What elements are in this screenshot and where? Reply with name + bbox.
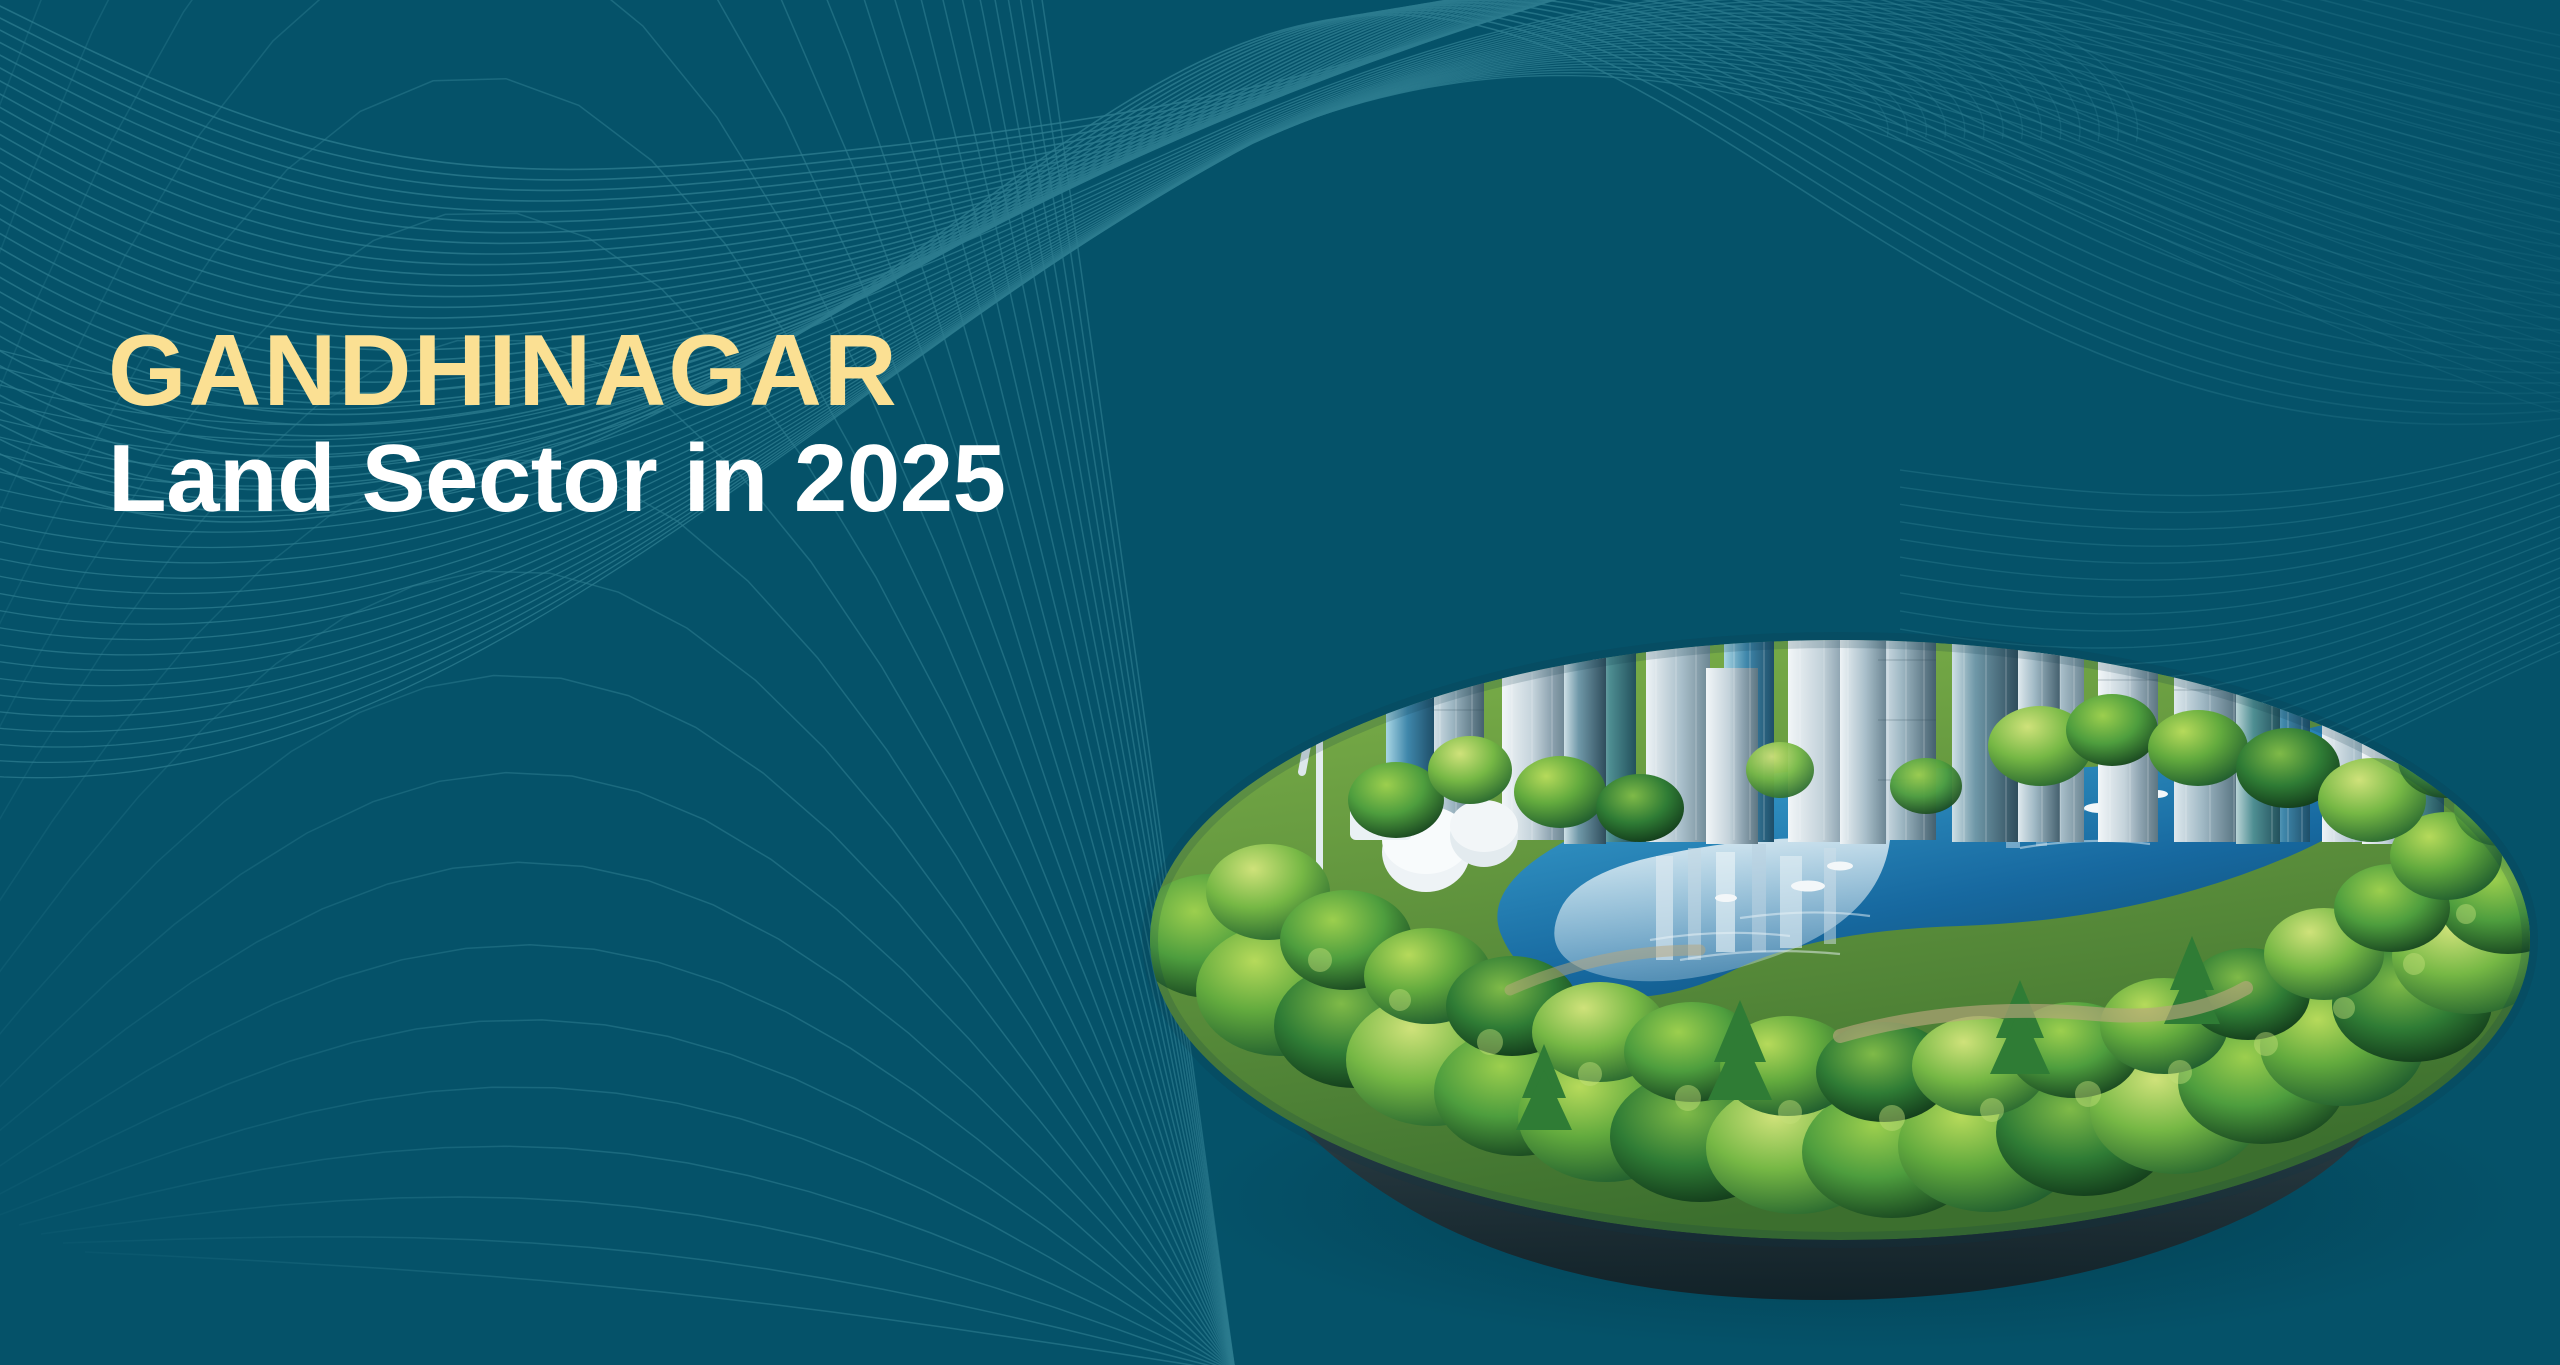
floating-green-city-island-image (1140, 300, 2560, 1365)
page-title-city: GANDHINAGAR (108, 322, 1005, 421)
page-title-subject: Land Sector in 2025 (108, 431, 1005, 527)
island-surface (1140, 362, 2560, 1240)
tower (1840, 638, 1886, 844)
banner-root: GANDHINAGAR Land Sector in 2025 (0, 0, 2560, 1365)
tower (2098, 376, 2158, 842)
headline-block: GANDHINAGAR Land Sector in 2025 (108, 322, 1005, 527)
tower (1952, 506, 2018, 842)
